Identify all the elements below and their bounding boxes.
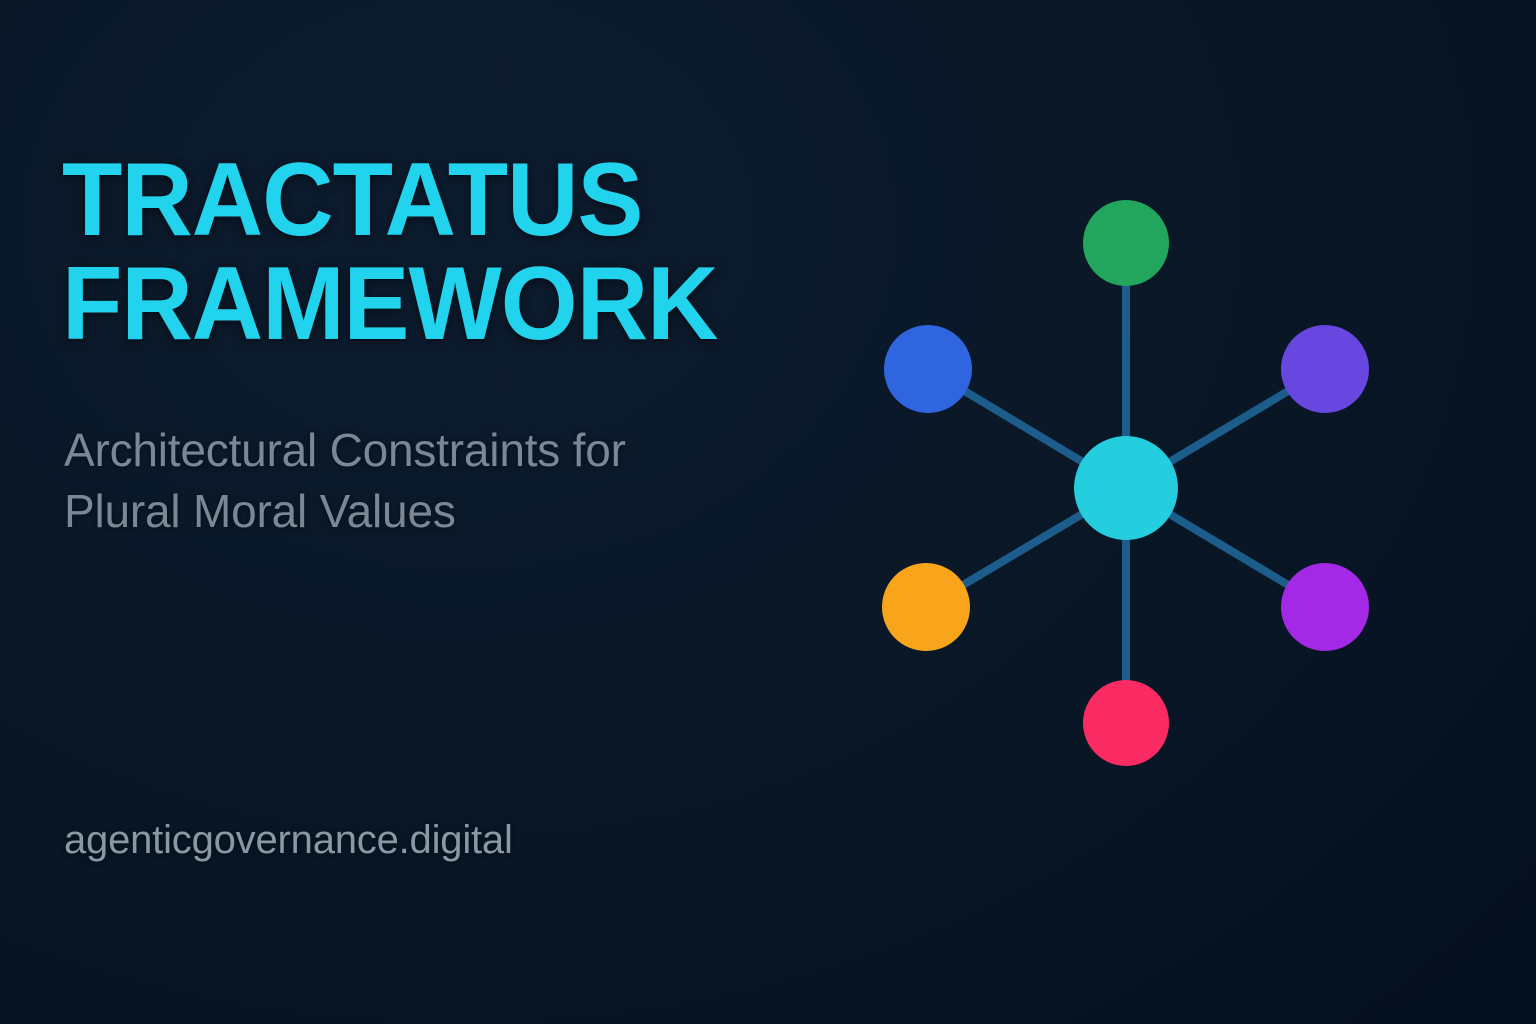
subtitle-line-1: Architectural Constraints for	[64, 420, 804, 481]
center-node[interactable]	[1074, 436, 1178, 540]
page-title: TRACTATUS FRAMEWORK	[62, 148, 822, 356]
subtitle-line-2: Plural Moral Values	[64, 481, 804, 542]
node-orange[interactable]	[882, 563, 970, 651]
poster-canvas: TRACTATUS FRAMEWORK Architectural Constr…	[0, 0, 1536, 1024]
node-green[interactable]	[1083, 200, 1169, 286]
website-url[interactable]: agenticgovernance.digital	[64, 818, 513, 863]
title-line-1: TRACTATUS	[62, 148, 784, 252]
node-pink[interactable]	[1083, 680, 1169, 766]
text-column: TRACTATUS FRAMEWORK Architectural Constr…	[62, 0, 822, 1024]
node-violet[interactable]	[1281, 325, 1369, 413]
node-purple[interactable]	[1281, 563, 1369, 651]
network-diagram	[856, 0, 1536, 1024]
node-blue[interactable]	[884, 325, 972, 413]
title-line-2: FRAMEWORK	[62, 252, 784, 356]
page-subtitle: Architectural Constraints for Plural Mor…	[64, 420, 804, 542]
network-diagram-svg	[856, 0, 1536, 1024]
